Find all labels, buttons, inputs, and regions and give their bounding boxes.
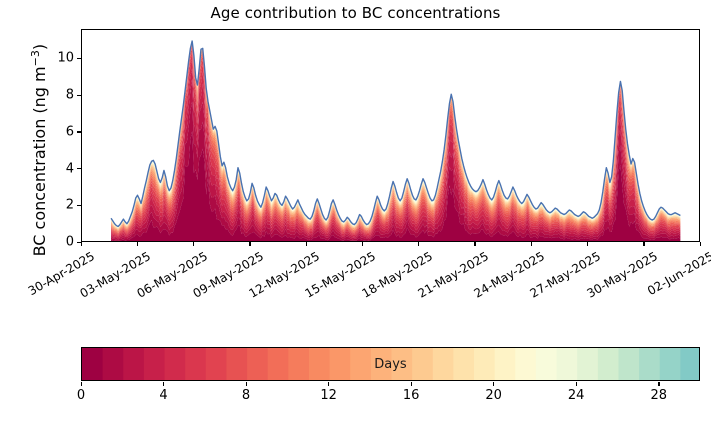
colorbar-band-4 [165, 348, 186, 381]
colorbar-tick-label: 12 [320, 388, 337, 403]
y-tick-label: 2 [34, 198, 74, 213]
colorbar-tick-label: 0 [77, 388, 85, 403]
x-tick-mark [643, 242, 644, 246]
colorbar-band-6 [206, 348, 227, 381]
colorbar-band-8 [247, 348, 268, 381]
x-tick-mark [474, 242, 475, 246]
x-tick-mark [700, 242, 701, 246]
colorbar-band-15 [392, 348, 413, 381]
colorbar-band-21 [515, 348, 536, 381]
colorbar-tick-label: 8 [242, 388, 250, 403]
x-tick-mark [137, 242, 138, 246]
stacked-area-plot [82, 30, 700, 242]
colorbar-band-19 [474, 348, 495, 381]
colorbar-band-24 [577, 348, 598, 381]
colorbar-tick-mark [163, 382, 164, 386]
colorbar-tick-mark [246, 382, 247, 386]
colorbar-band-18 [453, 348, 474, 381]
y-tick-label: 4 [34, 161, 74, 176]
colorbar-tick-mark [576, 382, 577, 386]
colorbar-tick-mark [658, 382, 659, 386]
colorbar-band-12 [330, 348, 351, 381]
colorbar-tick-mark [81, 382, 82, 386]
y-tick-label: 8 [34, 88, 74, 103]
colorbar-band-28 [660, 348, 681, 381]
colorbar-band-14 [371, 348, 392, 381]
colorbar-gradient [82, 348, 700, 381]
colorbar-tick-label: 28 [650, 388, 667, 403]
x-tick-mark [249, 242, 250, 246]
plot-area [81, 29, 700, 242]
colorbar-tick-mark [328, 382, 329, 386]
colorbar-tick-label: 4 [159, 388, 167, 403]
colorbar-band-1 [103, 348, 124, 381]
colorbar-band-13 [350, 348, 371, 381]
colorbar-band-3 [144, 348, 165, 381]
x-tick-mark [418, 242, 419, 246]
colorbar-band-23 [557, 348, 578, 381]
colorbar-band-29 [680, 348, 700, 381]
x-tick-mark [587, 242, 588, 246]
x-tick-mark [306, 242, 307, 246]
colorbar-band-7 [226, 348, 247, 381]
colorbar-band-27 [639, 348, 660, 381]
colorbar-band-16 [412, 348, 433, 381]
colorbar-band-2 [123, 348, 144, 381]
colorbar-band-20 [495, 348, 516, 381]
y-tick-label: 0 [34, 235, 74, 250]
y-tick-label: 6 [34, 124, 74, 139]
colorbar-band-25 [598, 348, 619, 381]
colorbar-band-10 [288, 348, 309, 381]
colorbar-tick-label: 20 [485, 388, 502, 403]
colorbar-tick-label: 16 [403, 388, 420, 403]
colorbar-band-22 [536, 348, 557, 381]
colorbar-band-11 [309, 348, 330, 381]
colorbar-tick-mark [411, 382, 412, 386]
colorbar-tick-label: 24 [568, 388, 585, 403]
x-tick-mark [362, 242, 363, 246]
colorbar-band-5 [185, 348, 206, 381]
x-tick-mark [81, 242, 82, 246]
chart-title: Age contribution to BC concentrations [0, 4, 711, 22]
x-tick-mark [531, 242, 532, 246]
figure-canvas: Age contribution to BC concentrations BC… [0, 0, 711, 425]
y-axis-label-paren: ) [30, 44, 49, 50]
colorbar-band-26 [618, 348, 639, 381]
colorbar-tick-mark [493, 382, 494, 386]
colorbar-band-0 [82, 348, 103, 381]
colorbar[interactable] [81, 347, 700, 381]
colorbar-band-17 [433, 348, 454, 381]
colorbar-band-9 [268, 348, 289, 381]
y-tick-label: 10 [34, 51, 74, 66]
x-tick-mark [193, 242, 194, 246]
